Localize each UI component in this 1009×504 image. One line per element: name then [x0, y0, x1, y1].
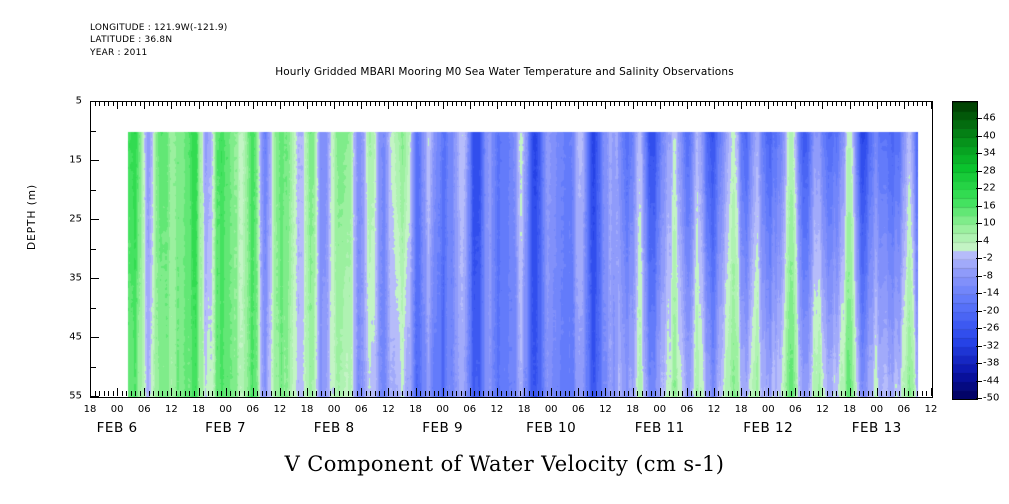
x-hour-label: 06: [355, 404, 368, 415]
y-axis-title: DEPTH (m): [26, 184, 38, 250]
colorbar-tick-label: -44: [983, 375, 999, 386]
x-date-label: FEB 11: [635, 420, 685, 436]
y-tick-label: 55: [69, 391, 82, 402]
colorbar-tick: [976, 258, 982, 259]
x-hour-label: 12: [599, 404, 612, 415]
x-hour-label: 18: [409, 404, 422, 415]
colorbar-tick: [976, 328, 982, 329]
colorbar-tick: [976, 398, 982, 399]
colorbar-tick-label: -8: [983, 270, 993, 281]
x-hour-label: 00: [219, 404, 232, 415]
colorbar-tick: [976, 241, 982, 242]
x-date-label: FEB 6: [97, 420, 138, 436]
colorbar-tick-label: 28: [983, 165, 996, 176]
x-hour-label: 06: [138, 404, 151, 415]
x-hour-label: 00: [328, 404, 341, 415]
x-hour-label: 18: [301, 404, 314, 415]
x-hour-label: 06: [246, 404, 259, 415]
x-hour-label: 00: [545, 404, 558, 415]
chart-title: Hourly Gridded MBARI Mooring M0 Sea Wate…: [0, 66, 1009, 78]
y-tick-label: 45: [69, 332, 82, 343]
colorbar-tick: [976, 118, 982, 119]
x-hour-label: 06: [680, 404, 693, 415]
colorbar-tick: [976, 346, 982, 347]
x-hour-label: 12: [708, 404, 721, 415]
plot-area: [90, 101, 933, 398]
colorbar-tick: [976, 381, 982, 382]
x-date-label: FEB 10: [526, 420, 576, 436]
y-tick-label: 25: [69, 214, 82, 225]
colorbar: 464034282216104-2-8-14-20-26-32-38-44-50: [952, 101, 1009, 398]
x-axis-hour-labels: 1800061218000612180006121800061218000612…: [90, 404, 933, 418]
x-hour-label: 00: [111, 404, 124, 415]
colorbar-tick: [976, 171, 982, 172]
y-tick-label: 35: [69, 273, 82, 284]
x-date-label: FEB 12: [743, 420, 793, 436]
x-hour-label: 06: [789, 404, 802, 415]
x-hour-label: 18: [192, 404, 205, 415]
colorbar-tick: [976, 311, 982, 312]
x-axis-date-labels: FEB 6FEB 7FEB 8FEB 9FEB 10FEB 11FEB 12FE…: [90, 420, 933, 440]
y-tick-label: 5: [76, 96, 82, 107]
colorbar-tick: [976, 293, 982, 294]
y-tick-label: 15: [69, 155, 82, 166]
plot-caption: V Component of Water Velocity (cm s-1): [0, 452, 1009, 476]
colorbar-tick-label: 46: [983, 113, 996, 124]
colorbar-tick: [976, 206, 982, 207]
colorbar-tick-label: -38: [983, 358, 999, 369]
colorbar-tick: [976, 153, 982, 154]
colorbar-tick: [976, 276, 982, 277]
x-hour-label: 18: [735, 404, 748, 415]
colorbar-tick-label: 10: [983, 218, 996, 229]
colorbar-tick: [976, 363, 982, 364]
x-hour-label: 12: [925, 404, 938, 415]
colorbar-tick-label: -32: [983, 340, 999, 351]
x-hour-label: 12: [165, 404, 178, 415]
colorbar-tick-label: 40: [983, 130, 996, 141]
x-hour-label: 18: [84, 404, 97, 415]
colorbar-tick-label: -50: [983, 393, 999, 404]
x-hour-label: 06: [463, 404, 476, 415]
x-hour-label: 06: [897, 404, 910, 415]
x-hour-label: 00: [436, 404, 449, 415]
x-hour-label: 12: [274, 404, 287, 415]
x-hour-label: 00: [762, 404, 775, 415]
colorbar-tick-label: 34: [983, 148, 996, 159]
x-hour-label: 18: [626, 404, 639, 415]
colorbar-tick: [976, 136, 982, 137]
x-hour-label: 06: [572, 404, 585, 415]
colorbar-tick-label: -20: [983, 305, 999, 316]
colorbar-gradient: [952, 101, 978, 400]
colorbar-tick-label: 4: [983, 235, 989, 246]
colorbar-tick: [976, 223, 982, 224]
colorbar-tick-label: -14: [983, 288, 999, 299]
colorbar-tick-label: -26: [983, 323, 999, 334]
x-hour-label: 00: [653, 404, 666, 415]
x-hour-label: 12: [382, 404, 395, 415]
x-hour-label: 18: [843, 404, 856, 415]
colorbar-tick-label: -2: [983, 253, 993, 264]
x-hour-label: 18: [518, 404, 531, 415]
colorbar-tick-label: 16: [983, 200, 996, 211]
x-hour-label: 00: [870, 404, 883, 415]
velocity-heatmap: [91, 102, 932, 397]
x-date-label: FEB 7: [205, 420, 246, 436]
colorbar-tick-label: 22: [983, 183, 996, 194]
x-hour-label: 12: [491, 404, 504, 415]
metadata-block: LONGITUDE : 121.9W(-121.9) LATITUDE : 36…: [90, 22, 228, 59]
x-date-label: FEB 13: [852, 420, 902, 436]
longitude-text: LONGITUDE : 121.9W(-121.9): [90, 22, 228, 34]
x-date-label: FEB 9: [422, 420, 463, 436]
x-hour-label: 12: [816, 404, 829, 415]
x-date-label: FEB 8: [314, 420, 355, 436]
latitude-text: LATITUDE : 36.8N: [90, 34, 228, 46]
year-text: YEAR : 2011: [90, 47, 228, 59]
colorbar-tick: [976, 188, 982, 189]
